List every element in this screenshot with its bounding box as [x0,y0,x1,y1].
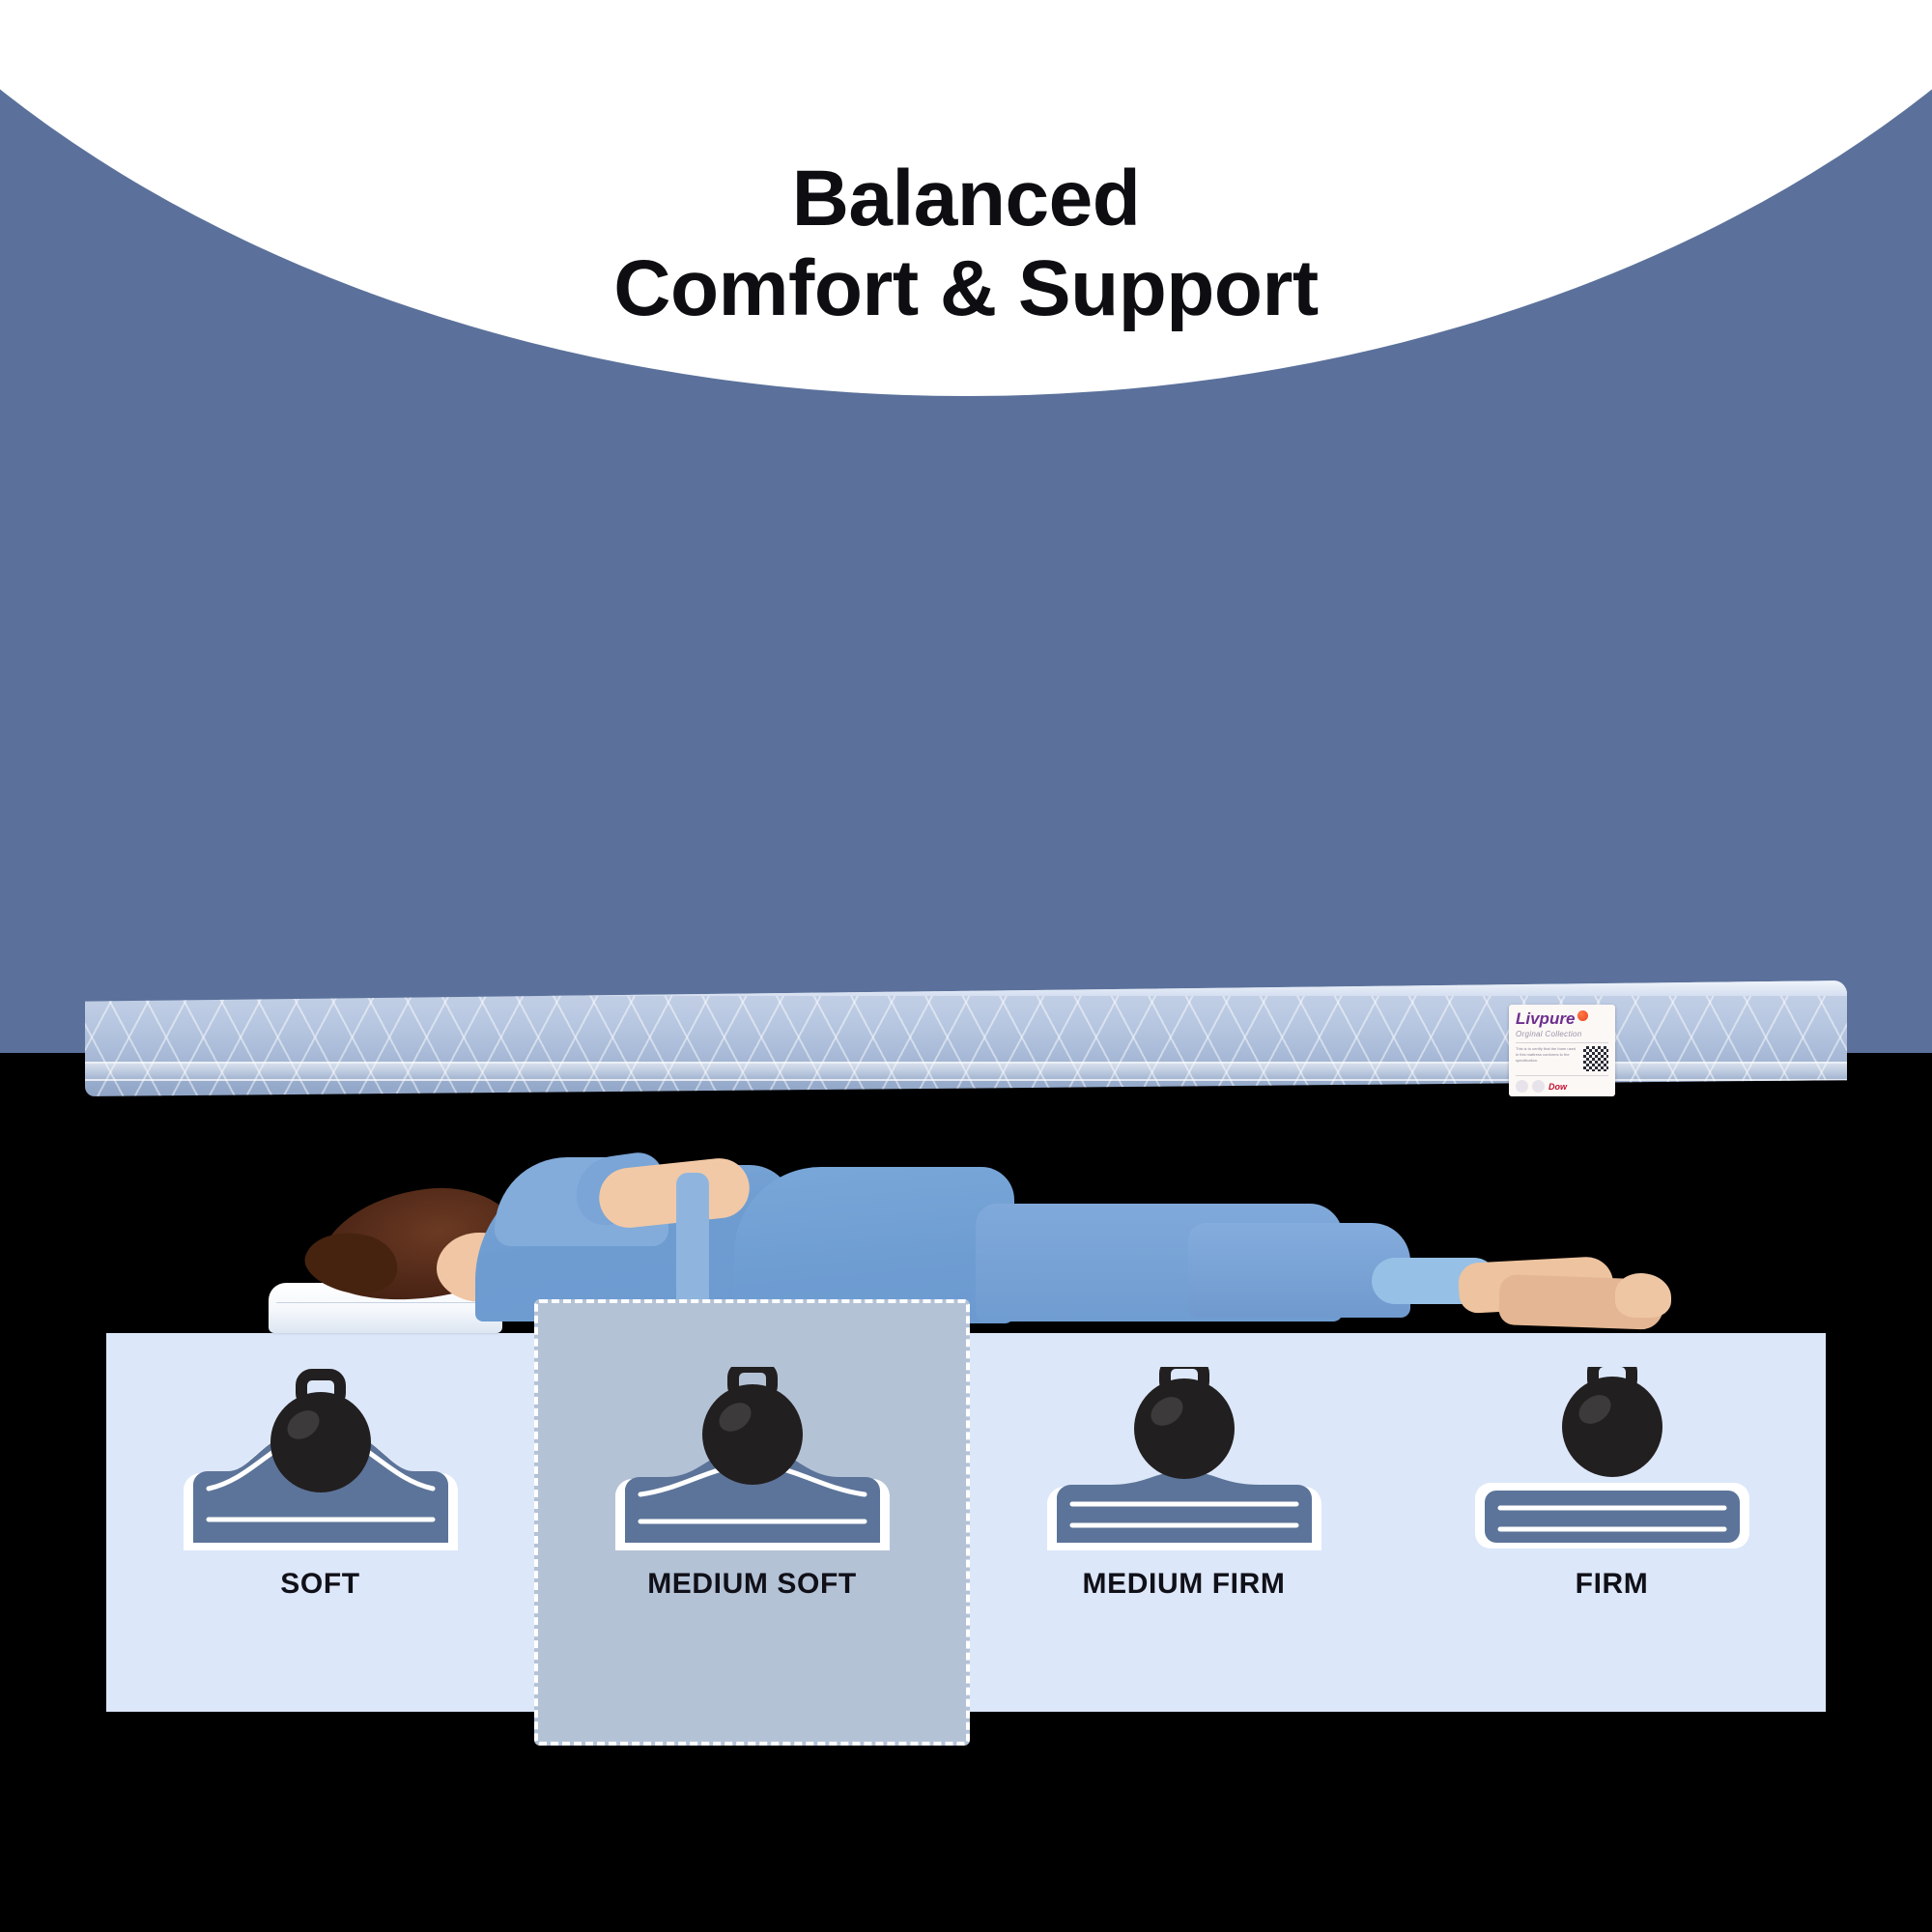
page-title: Balanced Comfort & Support [0,155,1932,333]
brand-dot-icon [1577,1010,1588,1021]
side-sleeping-person [0,541,1932,1140]
hang-tag-footer-band [1516,1095,1608,1096]
divider [1516,1075,1608,1076]
product-hang-tag: Livpure Orginal Collection This is to ce… [1509,1005,1615,1096]
quality-seal-icon [1532,1080,1545,1093]
firmness-label: FIRM [1576,1568,1649,1601]
hang-tag-body: This is to certify that the foam used in… [1516,1046,1608,1071]
firmness-option-firm[interactable]: FIRM [1398,1333,1826,1712]
hang-tag-footer: Dow [1516,1080,1608,1093]
firmness-option-medium-soft[interactable]: MEDIUM SOFT [534,1299,970,1746]
hang-tag-collection: Orginal Collection [1516,1030,1608,1038]
weight-on-soft-mattress-icon [176,1367,466,1550]
certification-seal-icon [1516,1080,1528,1093]
hang-tag-brand: Livpure [1516,1010,1608,1027]
firmness-selector[interactable]: SOFT MEDIUM SOFT [106,1299,1826,1746]
firmness-option-medium-firm[interactable]: MEDIUM FIRM [970,1333,1398,1712]
firmness-option-soft[interactable]: SOFT [106,1333,534,1712]
firmness-label: MEDIUM SOFT [647,1568,857,1601]
weight-on-firm-mattress-icon [1467,1367,1757,1550]
weight-on-medium-soft-mattress-icon [608,1367,897,1550]
mattress-photo-scene: Livpure Livpure Livpure [0,541,1932,1140]
headline-line-1: Balanced [792,155,1141,242]
divider [1516,1042,1608,1043]
hang-tag-partner-logo: Dow [1548,1082,1567,1092]
hang-tag-cert-text: This is to certify that the foam used in… [1516,1046,1578,1064]
firmness-label: MEDIUM FIRM [1083,1568,1286,1601]
qr-code-icon [1583,1046,1608,1071]
product-feature-graphic: Balanced Comfort & Support [0,0,1932,1932]
headline-line-2: Comfort & Support [0,244,1932,334]
firmness-label: SOFT [280,1568,359,1601]
weight-on-medium-firm-mattress-icon [1039,1367,1329,1550]
hang-tag-brand-text: Livpure [1516,1009,1575,1028]
